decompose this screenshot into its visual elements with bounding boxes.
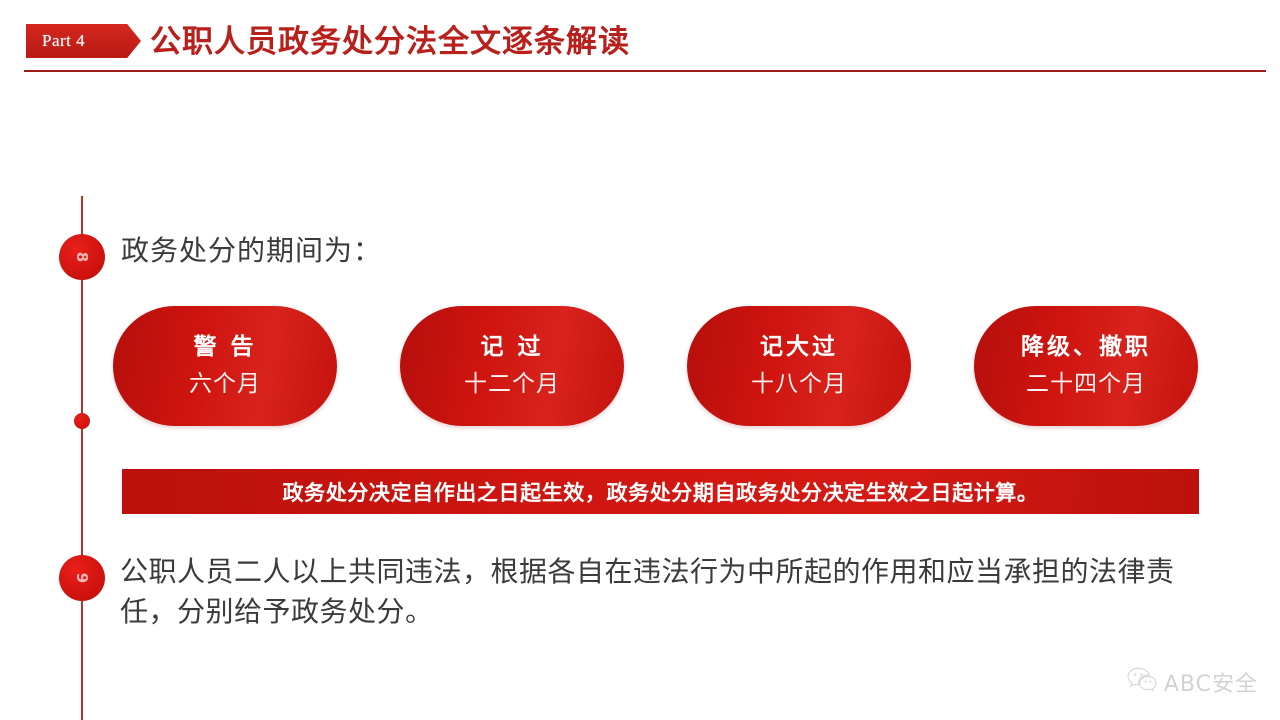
watermark-label: ABC安全 [1164,666,1258,698]
wechat-icon [1127,667,1157,698]
punishment-pill: 记 过 十二个月 [400,306,624,426]
punishment-pill-title: 降级、撤职 [1021,334,1151,360]
punishment-pill-duration: 二十四个月 [1026,364,1146,398]
part-badge-label: Part 4 [42,31,85,51]
section-8-lead-text: 政务处分的期间为： [121,229,382,269]
punishment-pill-duration: 十二个月 [464,364,560,398]
punishment-pill: 警 告 六个月 [113,306,337,426]
effective-date-banner: 政务处分决定自作出之日起生效，政务处分期自政务处分决定生效之日起计算。 [122,469,1199,514]
slide-header: Part 4 公职人员政务处分法全文逐条解读 [0,0,1280,78]
punishment-pill-title: 记 过 [480,334,543,360]
timeline-marker-8-number: 8 [73,252,91,262]
punishment-pill-duration: 六个月 [189,364,261,398]
punishment-duration-pill-row: 警 告 六个月 记 过 十二个月 记大过 十八个月 降级、撤职 二十四个月 [113,306,1213,426]
timeline-marker-9-number: 9 [73,573,91,583]
punishment-pill: 记大过 十八个月 [687,306,911,426]
header-divider [24,70,1266,72]
timeline-marker-9: 9 [59,555,105,601]
punishment-pill-title: 记大过 [760,334,838,360]
timeline-marker-8: 8 [59,234,105,280]
watermark: ABC安全 [1127,666,1258,698]
page-title: 公职人员政务处分法全文逐条解读 [150,16,630,61]
punishment-pill-title: 警 告 [193,334,256,360]
section-9-paragraph: 公职人员二人以上共同违法，根据各自在违法行为中所起的作用和应当承担的法律责任，分… [120,552,1205,632]
part-badge: Part 4 [26,24,141,58]
timeline-marker-dot [74,413,90,429]
punishment-pill-duration: 十八个月 [751,364,847,398]
punishment-pill: 降级、撤职 二十四个月 [974,306,1198,426]
effective-date-banner-text: 政务处分决定自作出之日起生效，政务处分期自政务处分决定生效之日起计算。 [283,477,1039,507]
